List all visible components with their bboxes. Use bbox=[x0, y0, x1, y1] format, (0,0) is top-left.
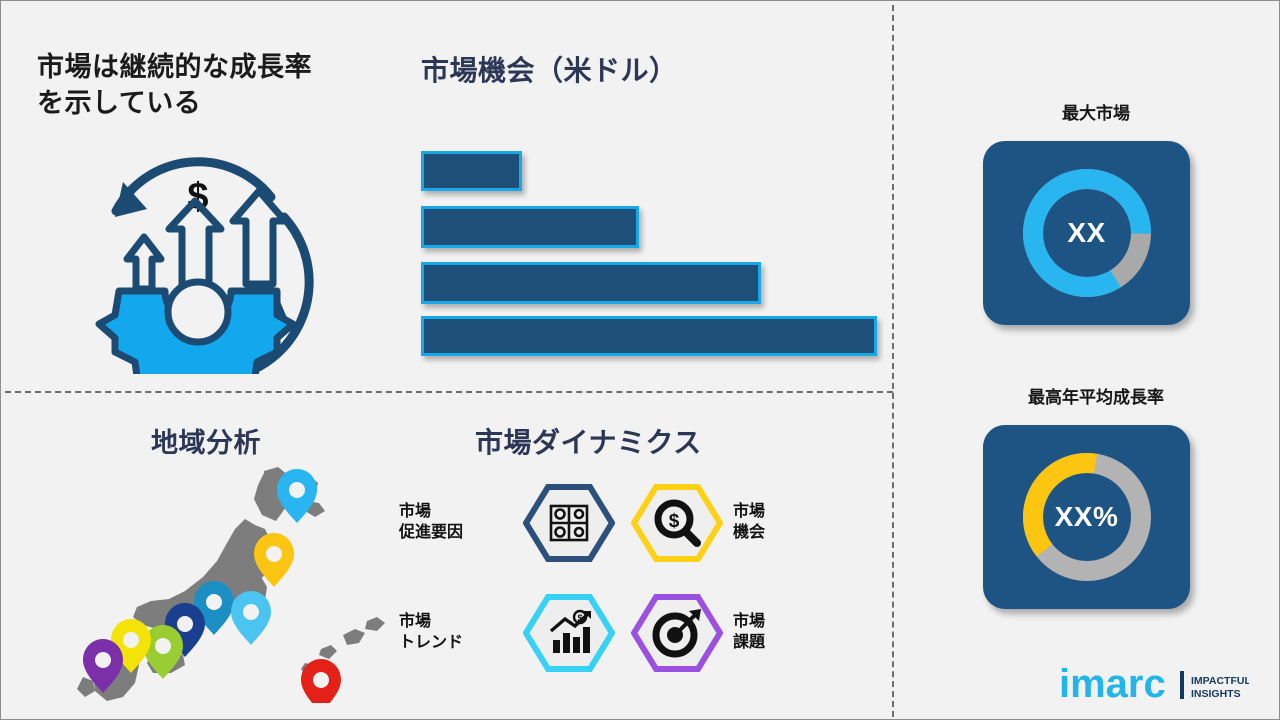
imarc-logo: imarc IMPACTFUL INSIGHTS bbox=[1059, 659, 1249, 705]
highest-cagr-value: XX% bbox=[983, 501, 1190, 533]
bar-3 bbox=[421, 262, 761, 304]
dynamics-label-trends: 市場 トレンド bbox=[399, 612, 515, 654]
largest-market-donut-card: XX bbox=[983, 141, 1190, 325]
puzzle-pieces-icon bbox=[551, 506, 587, 540]
dynamics-label-challenges: 市場 課題 bbox=[733, 612, 765, 654]
logo-wordmark: imarc bbox=[1059, 662, 1166, 705]
highest-cagr-donut-card: XX% bbox=[983, 425, 1190, 609]
japan-map bbox=[59, 463, 399, 703]
logo-tagline-1: IMPACTFUL bbox=[1191, 675, 1249, 687]
dynamics-item-challenges[interactable]: 市場 課題 bbox=[631, 587, 849, 679]
dynamics-label-drivers: 市場 促進要因 bbox=[399, 502, 515, 544]
bar-2 bbox=[421, 206, 639, 248]
market-dynamics-grid: 市場 促進要因 bbox=[399, 477, 849, 689]
logo-tagline-2: INSIGHTS bbox=[1191, 688, 1241, 700]
highest-cagr-title: 最高年平均成長率 bbox=[956, 383, 1236, 408]
svg-text:$: $ bbox=[669, 511, 680, 532]
dynamics-item-opportunities[interactable]: $ 市場 機会 bbox=[631, 477, 849, 569]
dynamics-label-opportunities: 市場 機会 bbox=[733, 502, 765, 544]
bar-1 bbox=[421, 151, 522, 191]
largest-market-title: 最大市場 bbox=[956, 99, 1236, 124]
bar-4 bbox=[421, 316, 877, 356]
horizontal-divider bbox=[5, 391, 893, 393]
market-opportunity-bar-chart bbox=[416, 146, 886, 356]
vertical-divider bbox=[892, 5, 894, 717]
dynamics-item-drivers[interactable]: 市場 促進要因 bbox=[399, 477, 624, 569]
growth-panel-title: 市場は継続的な成長率 を示している bbox=[37, 49, 387, 122]
svg-text:$: $ bbox=[577, 613, 582, 623]
dynamics-panel-title: 市場ダイナミクス bbox=[475, 421, 805, 461]
dynamics-item-trends[interactable]: 市場 トレンド $ bbox=[399, 587, 624, 679]
growth-gear-arrows-icon: $ bbox=[71, 139, 326, 374]
infographic-page: 市場は継続的な成長率 を示している $ 市場機会（米ドル） bbox=[0, 0, 1280, 720]
map-pin-group bbox=[83, 469, 341, 703]
largest-market-value: XX bbox=[983, 217, 1190, 249]
regional-panel-title: 地域分析 bbox=[151, 421, 411, 460]
opportunity-panel-title: 市場機会（米ドル） bbox=[421, 49, 871, 89]
